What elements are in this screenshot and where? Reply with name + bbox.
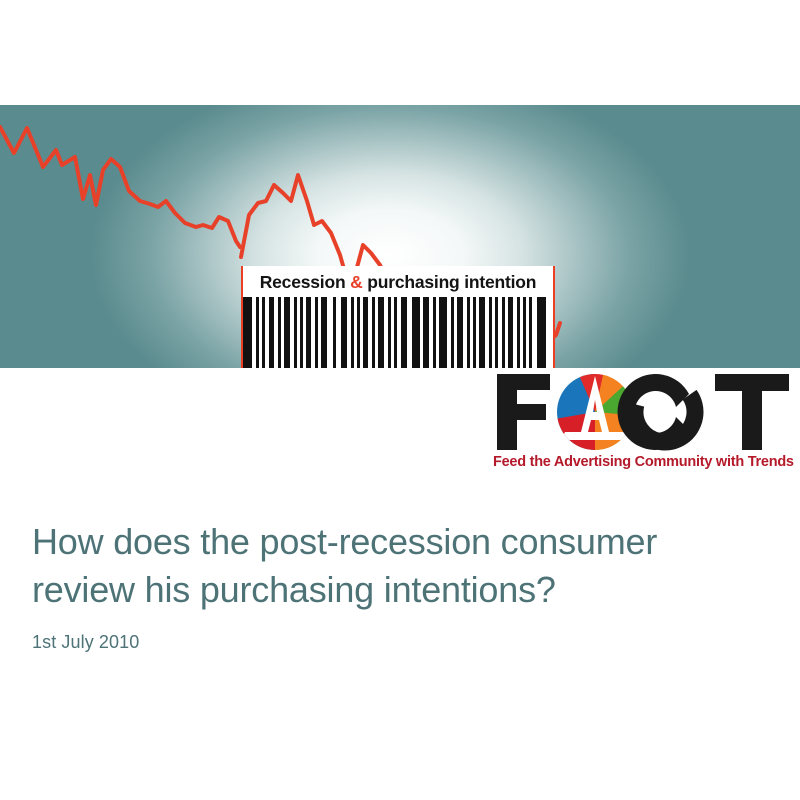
barcode-bar (256, 297, 259, 368)
hero-banner: Recession & purchasing intention (0, 105, 800, 368)
barcode-bar (423, 297, 429, 368)
barcode-bar (363, 297, 368, 368)
barcode-bar (394, 297, 397, 368)
barcode-bar (523, 297, 526, 368)
fact-letter-t (715, 374, 789, 450)
barcode-title-prefix: Recession (260, 272, 350, 292)
barcode-bar (433, 297, 436, 368)
barcode-bar (306, 297, 311, 368)
barcode-bar (495, 297, 498, 368)
barcode-bar (473, 297, 476, 368)
barcode-bar (333, 297, 336, 368)
fact-letter-a-base-band (561, 432, 629, 440)
barcode-bar (351, 297, 354, 368)
title-block: How does the post-recession consumer rev… (32, 518, 772, 653)
fact-logo: Feed the Advertising Community with Tren… (493, 370, 793, 480)
barcode-bar (439, 297, 447, 368)
fact-wordmark (493, 370, 793, 454)
page-title: How does the post-recession consumer rev… (32, 518, 772, 614)
barcode-bar (243, 297, 252, 368)
barcode-bar (372, 297, 375, 368)
fact-tagline: Feed the Advertising Community with Tren… (493, 454, 793, 470)
barcode-bars (241, 297, 555, 368)
barcode-bar (401, 297, 407, 368)
barcode-title-text: Recession & purchasing intention (241, 269, 555, 296)
barcode-bar (508, 297, 513, 368)
barcode-graphic: Recession & purchasing intention (241, 266, 555, 368)
barcode-bar (321, 297, 327, 368)
barcode-bar (284, 297, 290, 368)
trend-line-left-segment (0, 127, 240, 247)
barcode-bar (517, 297, 520, 368)
barcode-bar (489, 297, 492, 368)
barcode-bar (388, 297, 391, 368)
page-title-line-2: review his purchasing intentions? (32, 569, 556, 610)
barcode-title-ampersand: & (350, 272, 362, 292)
barcode-bar (479, 297, 485, 368)
barcode-bar (467, 297, 470, 368)
fact-letter-f (497, 374, 550, 450)
page-date: 1st July 2010 (32, 632, 772, 653)
barcode-bar (294, 297, 297, 368)
barcode-bar (315, 297, 318, 368)
barcode-bar (341, 297, 347, 368)
barcode-bar (300, 297, 303, 368)
page-title-line-1: How does the post-recession consumer (32, 521, 657, 562)
barcode-bar (269, 297, 274, 368)
barcode-bar (378, 297, 384, 368)
barcode-bar (357, 297, 360, 368)
barcode-bar (537, 297, 546, 368)
barcode-bar (529, 297, 532, 368)
barcode-title-suffix: purchasing intention (363, 272, 537, 292)
barcode-bar (412, 297, 420, 368)
barcode-bar (457, 297, 463, 368)
barcode-bar (262, 297, 265, 368)
barcode-bar (451, 297, 454, 368)
barcode-bar (278, 297, 281, 368)
barcode-bar (502, 297, 505, 368)
